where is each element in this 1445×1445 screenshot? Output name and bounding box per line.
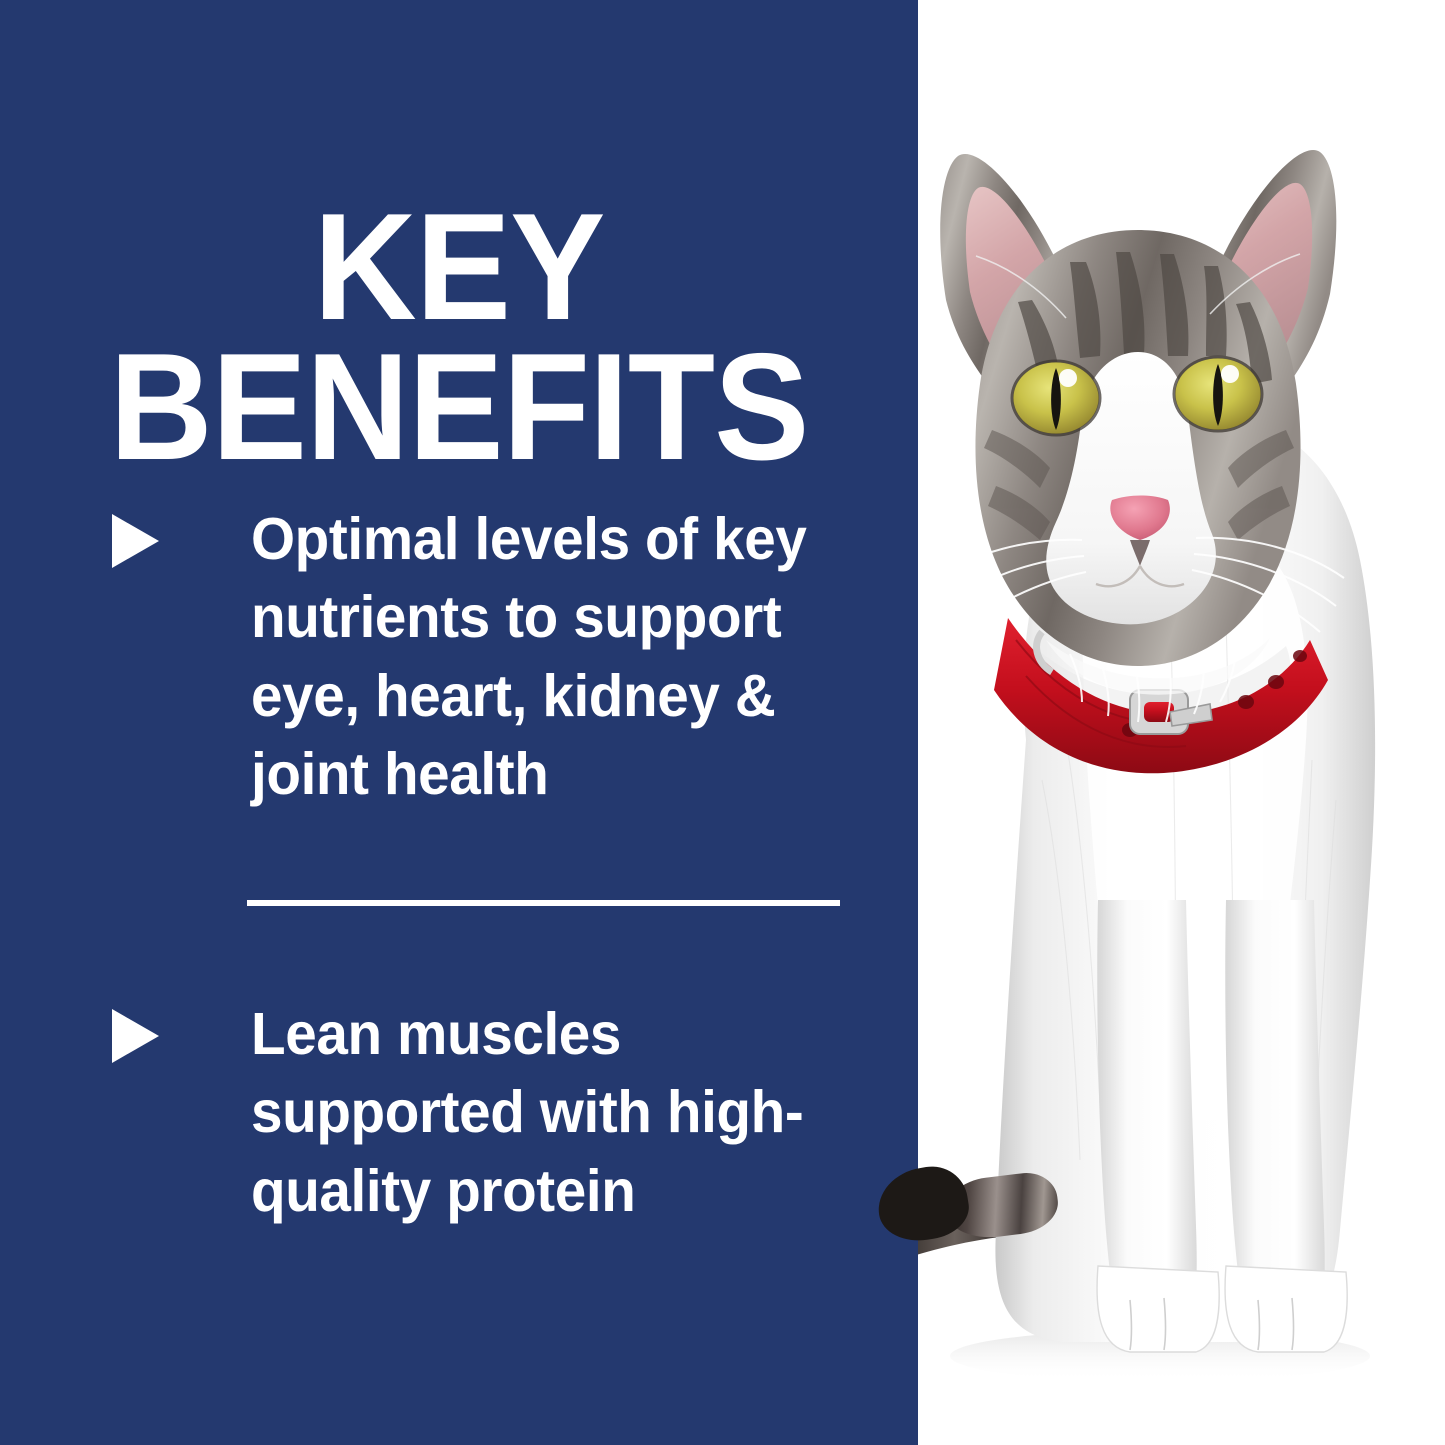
key-benefits-banner: KEY BENEFITS Optimal levels of key nutri… xyxy=(0,0,1445,1445)
benefit-item-1: Optimal levels of key nutrients to suppo… xyxy=(112,500,872,814)
triangle-bullet-icon xyxy=(112,1009,159,1063)
benefit-item-2: Lean muscles supported with high-quality… xyxy=(112,995,872,1230)
page-title: KEY BENEFITS xyxy=(28,198,891,478)
page-title-line-2: BENEFITS xyxy=(28,338,891,478)
benefit-item-1-text: Optimal levels of key nutrients to suppo… xyxy=(251,500,847,814)
triangle-bullet-icon xyxy=(112,514,159,568)
benefits-divider xyxy=(247,900,840,906)
page-title-line-1: KEY xyxy=(28,198,891,338)
benefit-item-2-text: Lean muscles supported with high-quality… xyxy=(251,995,847,1230)
